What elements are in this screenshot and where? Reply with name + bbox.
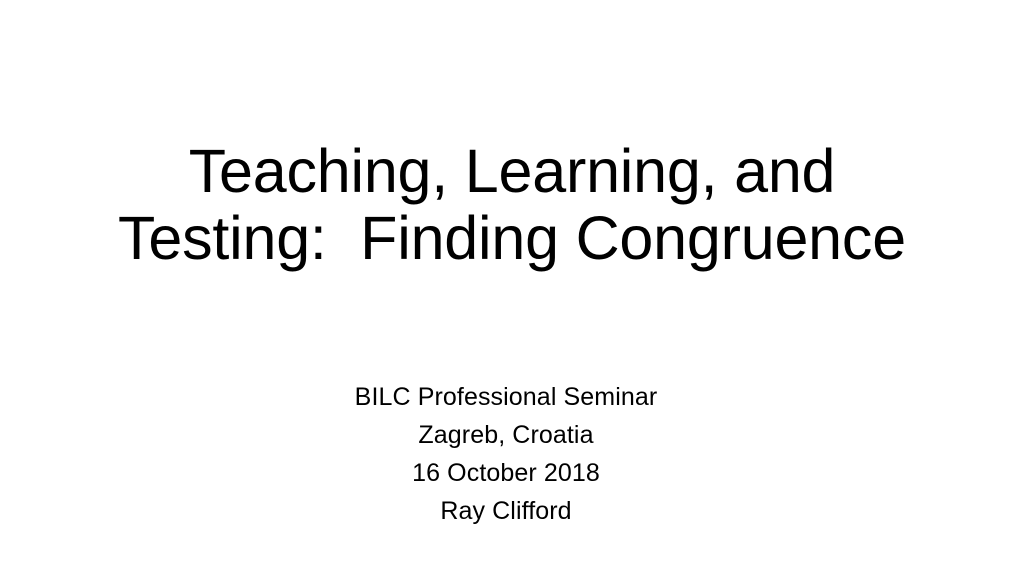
slide-title-line-1: Teaching, Learning, and — [62, 138, 962, 205]
subtitle-presenter: Ray Clifford — [106, 492, 906, 530]
subtitle-location: Zagreb, Croatia — [106, 416, 906, 454]
slide-title: Teaching, Learning, and Testing: Finding… — [62, 138, 962, 272]
slide-title-line-2: Testing: Finding Congruence — [62, 205, 962, 272]
slide-subtitle: BILC Professional Seminar Zagreb, Croati… — [106, 378, 906, 530]
subtitle-event: BILC Professional Seminar — [106, 378, 906, 416]
title-slide: Teaching, Learning, and Testing: Finding… — [0, 0, 1024, 576]
subtitle-date: 16 October 2018 — [106, 454, 906, 492]
